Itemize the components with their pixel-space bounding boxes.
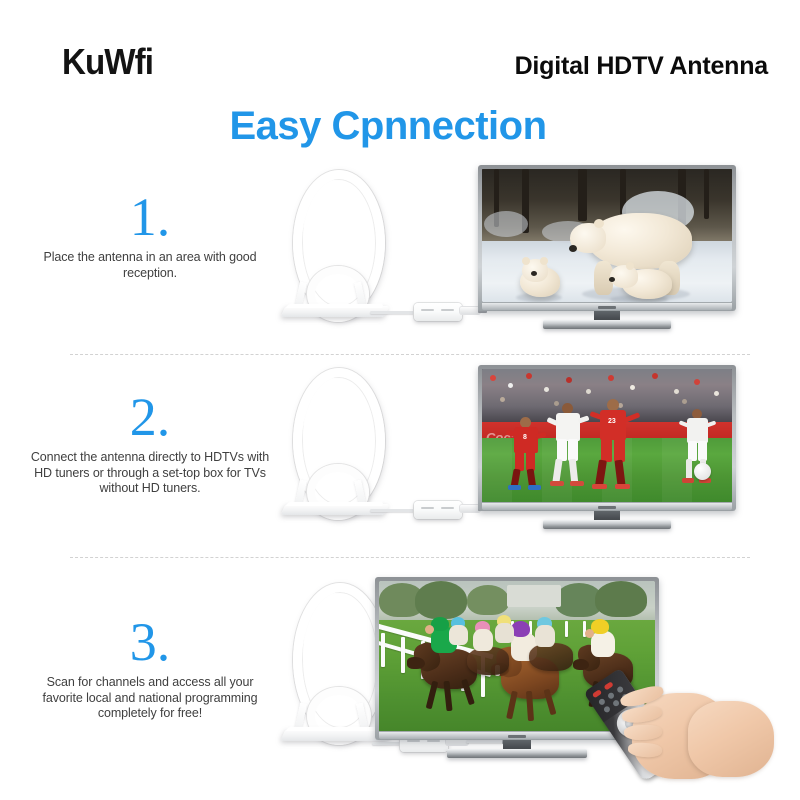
main-heading-text: Easy Cpnnection — [229, 104, 546, 148]
rail-post — [401, 637, 405, 673]
step-row-2: 2. Connect the antenna directly to HDTVs… — [0, 368, 800, 558]
player-shorts — [688, 441, 697, 461]
player-arm — [536, 432, 547, 439]
scene-soccer: Coca 8 — [482, 369, 732, 502]
loop-antenna-2 — [285, 368, 395, 538]
player-boot — [592, 484, 607, 489]
tv-stand-1 — [543, 320, 671, 329]
horse-body-bg — [529, 643, 573, 671]
antenna-cable-left-2 — [370, 509, 416, 512]
player-boot — [550, 481, 564, 486]
step-3-number: 3. — [30, 615, 270, 669]
tree-3 — [578, 169, 587, 221]
hand-back — [688, 701, 774, 777]
jockey-silks-cyan — [449, 625, 468, 645]
player-shorts — [557, 439, 567, 461]
antenna-base-top — [286, 304, 384, 308]
racecourse-treeline — [379, 581, 655, 620]
step-2-number: 2. — [30, 390, 270, 444]
soccer-player-red-23: 23 — [590, 399, 634, 493]
player-sock — [686, 459, 692, 480]
tree — [467, 585, 509, 615]
jockey-face — [585, 629, 594, 638]
product-title: Digital HDTV Antenna — [515, 54, 768, 79]
player-jersey: 23 — [600, 410, 626, 440]
player-jersey: 8 — [514, 427, 538, 453]
player-boot — [682, 478, 694, 483]
horse-head — [407, 657, 425, 669]
crowd-dot — [694, 379, 700, 385]
cub-right-nose — [609, 277, 615, 282]
step-2-text-block: 2. Connect the antenna directly to HDTVs… — [30, 390, 270, 497]
antenna-base-top-2 — [286, 502, 384, 506]
page-title: Easy Cpnnection — [0, 104, 800, 148]
jockey-silks-pink — [473, 629, 493, 651]
tv-power-led-1 — [598, 306, 616, 309]
player-boot — [570, 481, 584, 486]
crowd-dot — [714, 391, 719, 396]
player-jersey — [556, 413, 580, 441]
amp-label-right-1 — [441, 309, 454, 311]
crowd-dot — [682, 399, 687, 404]
crowd-dot — [674, 389, 679, 394]
tv-stand-2 — [543, 520, 671, 529]
tree — [415, 581, 467, 619]
hand-holding-remote — [596, 667, 796, 787]
tv-bezel-1 — [478, 165, 736, 311]
amp-label-left-2 — [421, 507, 434, 509]
cub-right-head — [610, 265, 638, 288]
crowd-dot — [630, 385, 635, 390]
cub-left-ear-1 — [522, 257, 530, 265]
soccer-player-red-8: 8 — [506, 417, 546, 493]
jockey-silks-cream — [495, 623, 514, 643]
crowd-dot — [526, 373, 532, 379]
crowd-dot — [608, 375, 614, 381]
player-boot — [615, 484, 630, 489]
brand-logo: KuWfi — [62, 44, 153, 80]
cub-left-ear-2 — [540, 257, 548, 265]
amp-label-left-1 — [421, 309, 434, 311]
player-boot — [528, 485, 541, 490]
player-boot — [508, 485, 521, 490]
tv-bezel-2: Coca 8 — [478, 365, 736, 511]
cub-right-ear — [626, 262, 634, 270]
crowd-dot — [652, 373, 658, 379]
bear-nose — [569, 245, 577, 252]
horse-body-bg — [467, 647, 509, 675]
player-shorts — [601, 438, 612, 462]
tv-screen-1 — [482, 169, 732, 302]
step-1-text-block: 1. Place the antenna in an area with goo… — [30, 190, 270, 281]
step-2-description: Connect the antenna directly to HDTVs wi… — [30, 450, 270, 497]
crowd-dot — [544, 387, 549, 392]
tv-stand-3 — [447, 749, 587, 758]
tree-6 — [704, 169, 709, 219]
tree — [595, 581, 647, 617]
step-1-number: 1. — [30, 190, 270, 244]
player-sock — [595, 460, 607, 487]
infographic-page: KuWfi Digital HDTV Antenna Easy Cpnnecti… — [0, 0, 800, 800]
tv-power-led-3 — [508, 735, 526, 738]
step-row-1: 1. Place the antenna in an area with goo… — [0, 165, 800, 355]
step-3-description: Scan for channels and access all your fa… — [30, 675, 270, 722]
amp-label-right-2 — [441, 507, 454, 509]
jockey-face — [425, 625, 434, 634]
soccer-ball — [694, 463, 711, 480]
snow-bush-1 — [484, 211, 528, 237]
signal-amplifier-2 — [414, 501, 462, 519]
bear-ear — [594, 219, 604, 228]
tv-power-led-2 — [598, 506, 616, 509]
antenna-cable-left-1 — [370, 311, 416, 314]
rail-post — [381, 633, 385, 667]
player-sock — [614, 460, 625, 487]
jersey-number: 8 — [523, 434, 527, 441]
grandstand-building — [507, 585, 561, 607]
crowd-dot — [586, 389, 591, 394]
step-row-3: 3. Scan for channels and access all your… — [0, 575, 800, 790]
hdtv-television-2: Coca 8 — [478, 365, 736, 535]
jersey-number: 23 — [608, 418, 616, 425]
antenna-base-top-3 — [286, 727, 388, 731]
crowd-dot — [566, 377, 572, 383]
step-3-text-block: 3. Scan for channels and access all your… — [30, 615, 270, 722]
player-shorts — [568, 439, 578, 461]
signal-amplifier-1 — [414, 303, 462, 321]
player-sock — [569, 459, 578, 484]
player-shorts — [614, 438, 625, 462]
crowd-dot — [500, 397, 505, 402]
rail-post-far — [565, 621, 568, 637]
cub-left-nose — [531, 271, 537, 276]
step-1-description: Place the antenna in an area with good r… — [30, 250, 270, 281]
player-jersey — [687, 418, 708, 443]
crowd-dot — [490, 375, 496, 381]
amp-plug-1 — [460, 307, 480, 314]
crowd-dot — [508, 383, 513, 388]
horse-head — [573, 659, 589, 670]
jockey-silks-yellow — [591, 631, 615, 657]
amp-plug-2 — [460, 505, 480, 512]
hdtv-television-1 — [478, 165, 736, 335]
player-shorts — [698, 441, 707, 461]
loop-antenna-1 — [285, 170, 395, 340]
jockey-silks-blue — [535, 625, 555, 647]
tv-screen-2: Coca 8 — [482, 369, 732, 502]
scene-polar-bears — [482, 169, 732, 302]
player-sock — [552, 459, 562, 484]
soccer-player-white-1 — [546, 403, 588, 493]
